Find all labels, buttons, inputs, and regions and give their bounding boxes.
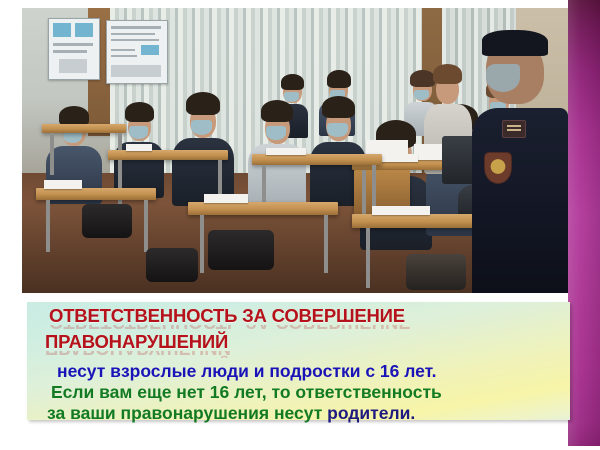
officer-cap [482, 30, 548, 56]
caption-title-line-2-reflection: ПРАВОНАРУШЕНИЙ [45, 351, 562, 358]
notebook-5 [372, 206, 430, 215]
notebook-3 [44, 180, 82, 189]
school-bag-2 [208, 230, 274, 270]
wall-poster-left [48, 18, 100, 80]
school-bag-3 [146, 248, 198, 282]
caption-body-line-3-green: за ваши правонарушения несут [47, 403, 322, 423]
classroom-photo [22, 8, 568, 293]
caption-text-container: ОТВЕТСТВЕННОСТЬ ЗА СОВЕРШЕНИЕ ОТВЕТСТВЕН… [27, 302, 570, 420]
caption-title-line-1: ОТВЕТСТВЕННОСТЬ ЗА СОВЕРШЕНИЕ [49, 306, 562, 326]
purple-band-sheen [568, 0, 600, 446]
caption-body-line-3: за ваши правонарушения несут родители. [47, 403, 562, 424]
caption-title-line-2: ПРАВОНАРУШЕНИЙ [45, 332, 562, 352]
caption-title-line-1-reflection: ОТВЕТСТВЕННОСТЬ ЗА СОВЕРШЕНИЕ [49, 325, 562, 332]
student-desk-5 [188, 202, 338, 215]
school-bag-1 [82, 204, 132, 238]
caption-box: ОТВЕТСТВЕННОСТЬ ЗА СОВЕРШЕНИЕ ОТВЕТСТВЕН… [27, 302, 570, 420]
notebook-1 [126, 144, 152, 151]
student-mid-3 [172, 92, 234, 202]
notebook-4 [204, 194, 248, 203]
student-desk-4 [36, 188, 156, 200]
photo-content [22, 8, 568, 293]
decorative-purple-band [568, 0, 600, 446]
officer-shoulder-patch [484, 152, 512, 184]
student-desk-1 [42, 124, 126, 133]
officer-face-mask [486, 64, 520, 92]
caption-body-line-3-navy: родители. [327, 403, 415, 423]
wall-poster-right [106, 20, 168, 84]
student-desk-3 [252, 154, 382, 165]
notebook-2 [266, 148, 306, 155]
police-officer [456, 24, 568, 293]
student-desk-2 [108, 150, 228, 160]
caption-body-line-1: несут взрослые люди и подростки с 16 лет… [57, 361, 562, 382]
officer-rank-insignia [502, 120, 526, 138]
slide-root: ОТВЕТСТВЕННОСТЬ ЗА СОВЕРШЕНИЕ ОТВЕТСТВЕН… [0, 0, 600, 450]
caption-body-line-2: Если вам еще нет 16 лет, то ответственно… [51, 382, 562, 403]
